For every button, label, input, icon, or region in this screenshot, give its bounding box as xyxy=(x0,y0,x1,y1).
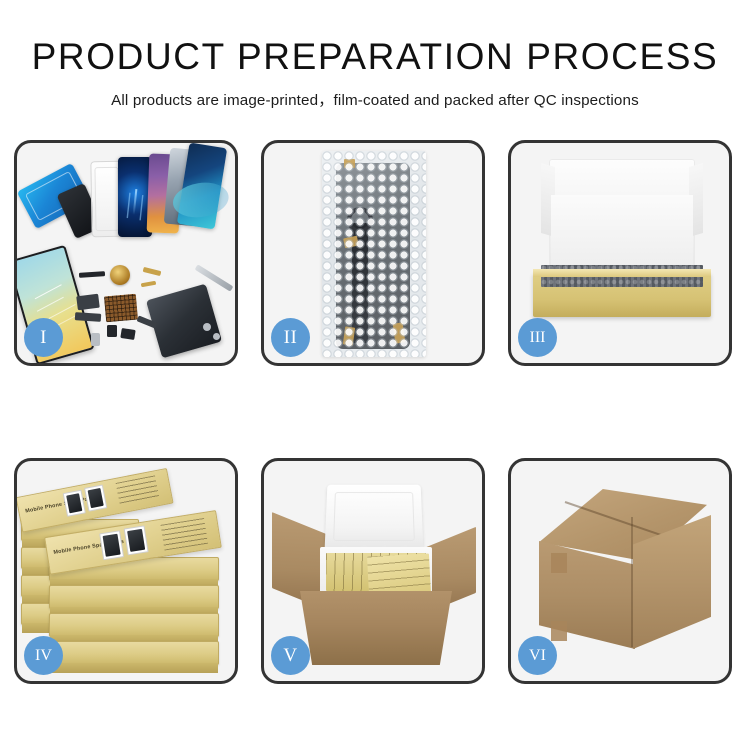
logic-board-part xyxy=(104,294,138,323)
step-badge-1: I xyxy=(24,318,63,357)
box-window-right-upper xyxy=(84,484,107,511)
page-header: PRODUCT PREPARATION PROCESS All products… xyxy=(0,0,750,110)
page-title: PRODUCT PREPARATION PROCESS xyxy=(0,36,750,77)
kraft-box-rim xyxy=(533,269,711,277)
flex-cable-part xyxy=(75,312,101,322)
process-step-panel-4[interactable]: Mobile Phone Spare Parts Mobile Phone Sp… xyxy=(14,458,238,684)
step-badge-6: VI xyxy=(518,636,557,675)
bubble-texture xyxy=(322,151,426,357)
box-window-left-upper xyxy=(63,490,86,517)
carton-tape-lower xyxy=(551,621,567,641)
carton-corner-seam xyxy=(631,517,633,647)
product-preparation-page: PRODUCT PREPARATION PROCESS All products… xyxy=(0,0,750,750)
process-step-panel-3[interactable]: III xyxy=(508,140,732,366)
camera-module-part xyxy=(76,294,100,311)
stack-box-right-3 xyxy=(49,613,219,637)
box-spec-text-lower xyxy=(161,518,209,551)
box-window-right-lower xyxy=(124,525,149,555)
box-window-left-lower xyxy=(99,530,124,560)
sim-tray-part xyxy=(91,333,100,346)
stack-box-right-2 xyxy=(49,585,219,609)
process-step-panel-1[interactable]: I xyxy=(14,140,238,366)
screw-part-a xyxy=(203,323,211,331)
gold-flex-part xyxy=(143,267,162,276)
process-steps-grid: I II xyxy=(14,140,736,684)
box-spec-text-upper xyxy=(116,475,160,506)
speaker-coil-part xyxy=(110,265,130,285)
stack-box-right-4 xyxy=(49,641,219,665)
white-foam-sheet xyxy=(551,195,693,273)
phone-back-housing xyxy=(146,284,222,359)
process-step-panel-2[interactable]: II xyxy=(261,140,485,366)
gold-bracket-part xyxy=(141,281,156,288)
carton-front-panel xyxy=(300,591,452,665)
process-step-panel-5[interactable]: V xyxy=(261,458,485,684)
step-badge-5: V xyxy=(271,636,310,675)
vibration-motor-part xyxy=(120,328,135,340)
step-badge-3: III xyxy=(518,318,557,357)
yellow-boxes-row-2 xyxy=(367,553,431,596)
bubble-wrap-pouch xyxy=(322,151,426,357)
step-badge-2: II xyxy=(271,318,310,357)
battery-connector-part xyxy=(107,325,117,337)
earpiece-part xyxy=(79,271,105,278)
screw-part-b xyxy=(213,333,220,340)
page-subtitle: All products are image-printed，film-coat… xyxy=(0,88,750,110)
carton-tape-upper xyxy=(551,553,567,573)
foam-box-lid xyxy=(325,485,424,552)
step-badge-4: IV xyxy=(24,636,63,675)
process-step-panel-6[interactable]: VI xyxy=(508,458,732,684)
